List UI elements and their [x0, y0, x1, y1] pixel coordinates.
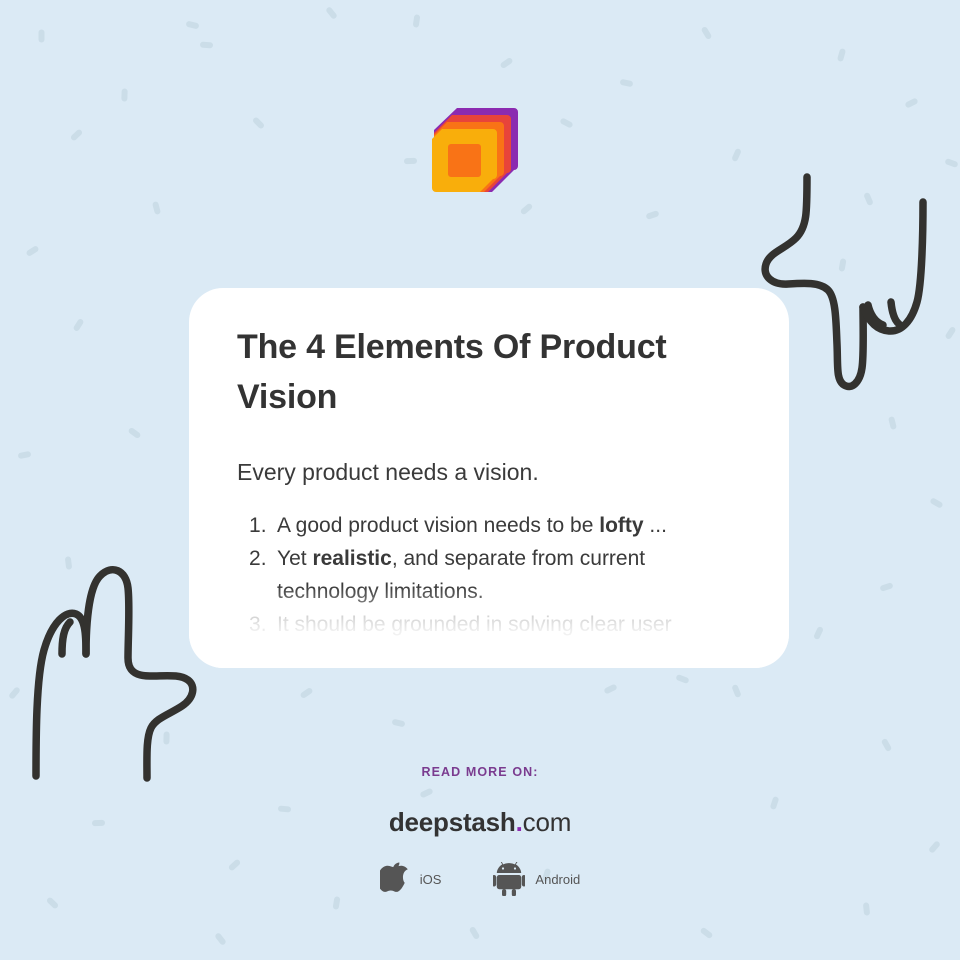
confetti-dash	[620, 79, 634, 88]
read-more-label: READ MORE ON:	[0, 765, 960, 779]
confetti-dash	[325, 6, 338, 20]
confetti-dash	[731, 684, 741, 698]
list-item-text: A good product vision needs to be	[277, 514, 599, 537]
confetti-dash	[881, 738, 893, 752]
brand-name: deepstash	[389, 807, 516, 837]
brand-tld: com	[523, 807, 572, 837]
list-item-text: Yet	[277, 547, 312, 570]
confetti-dash	[944, 158, 958, 168]
confetti-dash	[73, 318, 85, 332]
confetti-dash	[837, 48, 846, 62]
list-item-emphasis: realistic	[312, 547, 391, 570]
list-item: Yet realistic, and separate from current…	[237, 542, 741, 608]
confetti-dash	[863, 902, 870, 916]
idea-card: The 4 Elements Of Product Vision Every p…	[189, 288, 789, 668]
confetti-dash	[39, 30, 45, 43]
confetti-dash	[413, 14, 421, 28]
confetti-dash	[944, 326, 956, 340]
confetti-dash	[645, 210, 659, 220]
confetti-dash	[499, 57, 513, 69]
confetti-dash	[127, 427, 141, 439]
android-label: Android	[535, 872, 580, 887]
confetti-dash	[8, 686, 21, 700]
confetti-dash	[121, 88, 127, 101]
confetti-dash	[603, 683, 617, 694]
confetti-dash	[520, 202, 534, 215]
android-badge[interactable]: Android	[493, 862, 580, 896]
android-icon	[493, 862, 525, 896]
confetti-dash	[888, 416, 897, 430]
confetti-dash	[18, 451, 32, 459]
confetti-dash	[904, 97, 918, 108]
hand-pointing-up-icon	[18, 558, 210, 788]
confetti-dash	[214, 932, 227, 946]
confetti-dash	[838, 258, 846, 272]
apple-icon	[380, 862, 410, 896]
app-store-badges: iOS Android	[0, 862, 960, 896]
confetti-dash	[163, 731, 169, 744]
ios-label: iOS	[420, 872, 442, 887]
confetti-dash	[700, 927, 714, 940]
confetti-dash	[333, 896, 341, 910]
card-subtitle: Every product needs a vision.	[237, 457, 741, 487]
confetti-dash	[559, 117, 573, 128]
confetti-dash	[731, 148, 742, 162]
confetti-dash	[701, 26, 713, 40]
confetti-dash	[813, 626, 824, 640]
confetti-dash	[200, 42, 213, 49]
confetti-dash	[675, 674, 689, 684]
confetti-dash	[404, 158, 417, 164]
confetti-dash	[65, 556, 73, 570]
list-item: A good product vision needs to be lofty …	[237, 509, 741, 542]
deepstash-logo	[430, 104, 522, 196]
ios-badge[interactable]: iOS	[380, 862, 442, 896]
list-item: It should be grounded in solving clear u…	[237, 608, 741, 641]
list-item-text: It should be grounded in solving clear u…	[277, 613, 672, 636]
confetti-dash	[391, 719, 405, 728]
confetti-dash	[299, 687, 313, 699]
poster-canvas: The 4 Elements Of Product Vision Every p…	[0, 0, 960, 960]
footer: READ MORE ON: deepstash.com iOS	[0, 765, 960, 896]
confetti-dash	[70, 128, 84, 141]
confetti-dash	[25, 245, 39, 257]
list-item-text: ...	[644, 514, 667, 537]
confetti-dash	[863, 192, 874, 206]
list-item-emphasis: lofty	[599, 514, 643, 537]
idea-list: A good product vision needs to be lofty …	[237, 509, 741, 641]
confetti-dash	[46, 896, 60, 909]
confetti-dash	[469, 926, 481, 940]
confetti-dash	[929, 497, 943, 509]
confetti-dash	[879, 582, 893, 592]
idea-card-content: The 4 Elements Of Product Vision Every p…	[189, 288, 789, 668]
confetti-dash	[152, 201, 161, 215]
brand-wordmark: deepstash.com	[0, 807, 960, 838]
confetti-dash	[185, 21, 199, 30]
confetti-dash	[252, 116, 265, 129]
page-title: The 4 Elements Of Product Vision	[237, 322, 741, 422]
brand-dot: .	[516, 807, 523, 837]
